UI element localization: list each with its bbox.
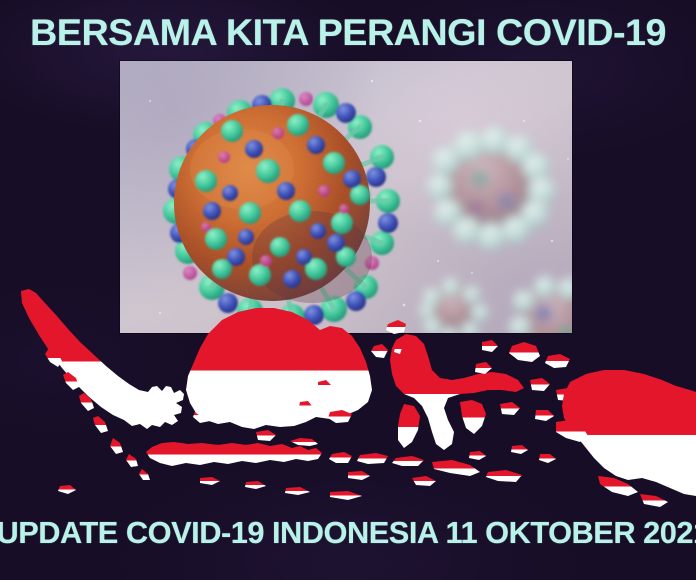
update-caption: UPDATE COVID-19 INDONESIA 11 OKTOBER 202…: [0, 516, 696, 550]
covid-update-poster: BERSAMA KITA PERANGI COVID-19: [0, 0, 696, 580]
indonesia-map: [0, 286, 696, 516]
indonesia-landmass: [21, 289, 696, 507]
indonesia-map-svg: [0, 286, 696, 516]
page-title: BERSAMA KITA PERANGI COVID-19: [0, 13, 696, 53]
